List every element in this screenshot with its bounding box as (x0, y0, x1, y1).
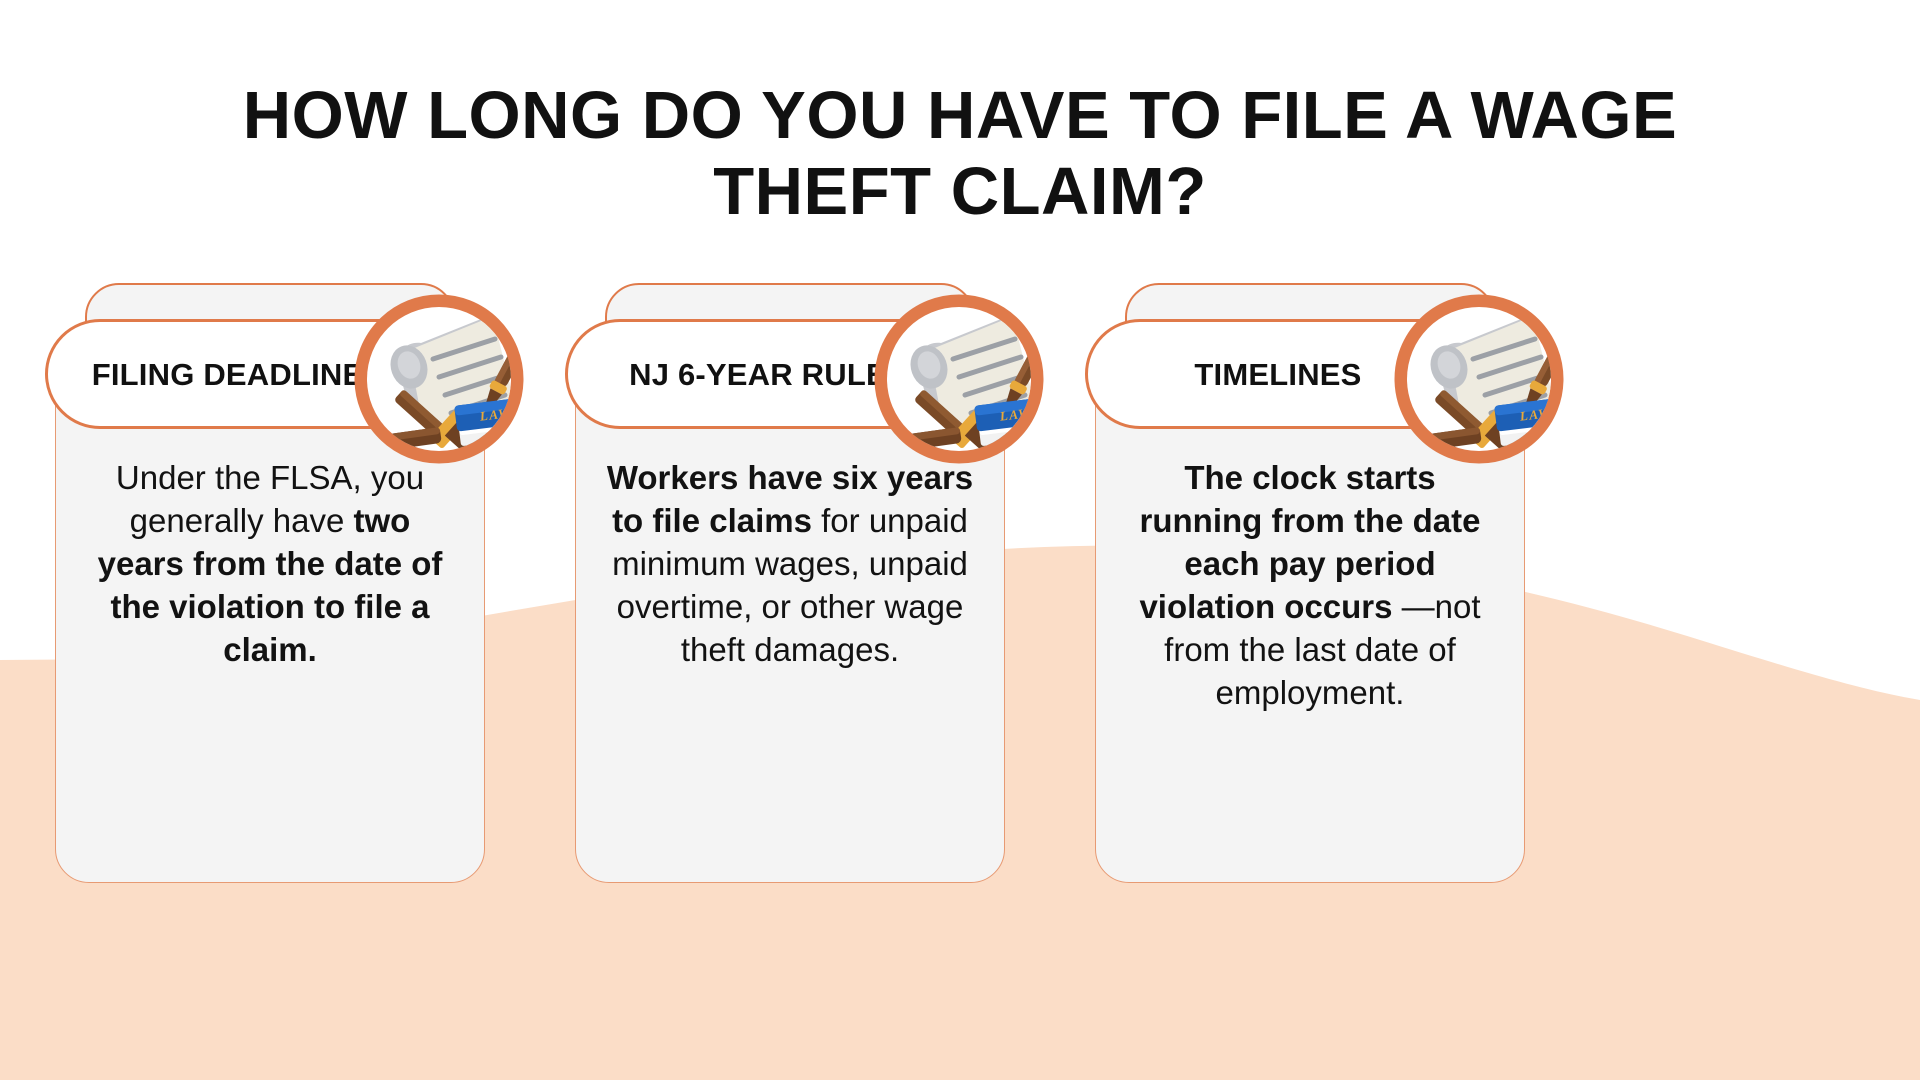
gavel-scroll-law-book-icon: LAW (1393, 293, 1565, 465)
card-body-text: Under the FLSA, you generally have two y… (82, 456, 458, 671)
card-heading-label: NJ 6-YEAR RULE (629, 356, 887, 393)
page-title-line-1: HOW LONG DO YOU HAVE TO FILE A WAGE (40, 78, 1880, 154)
card-body-panel: Workers have six years to file claims fo… (575, 403, 1005, 883)
card-body-text: The clock starts running from the date e… (1122, 456, 1498, 714)
infographic-canvas: HOW LONG DO YOU HAVE TO FILE A WAGE THEF… (0, 0, 1920, 1080)
card-body-text: Workers have six years to file claims fo… (602, 456, 978, 671)
gavel-scroll-law-book-icon: LAW (873, 293, 1045, 465)
page-title-line-2: THEFT CLAIM? (40, 154, 1880, 230)
card-heading-label: FILING DEADLINES (92, 356, 385, 393)
card-body-panel: The clock starts running from the date e… (1095, 403, 1525, 883)
card-body-panel: Under the FLSA, you generally have two y… (55, 403, 485, 883)
page-title: HOW LONG DO YOU HAVE TO FILE A WAGE THEF… (0, 78, 1920, 230)
gavel-scroll-law-book-icon: LAW (353, 293, 525, 465)
card-heading-label: TIMELINES (1194, 356, 1361, 393)
